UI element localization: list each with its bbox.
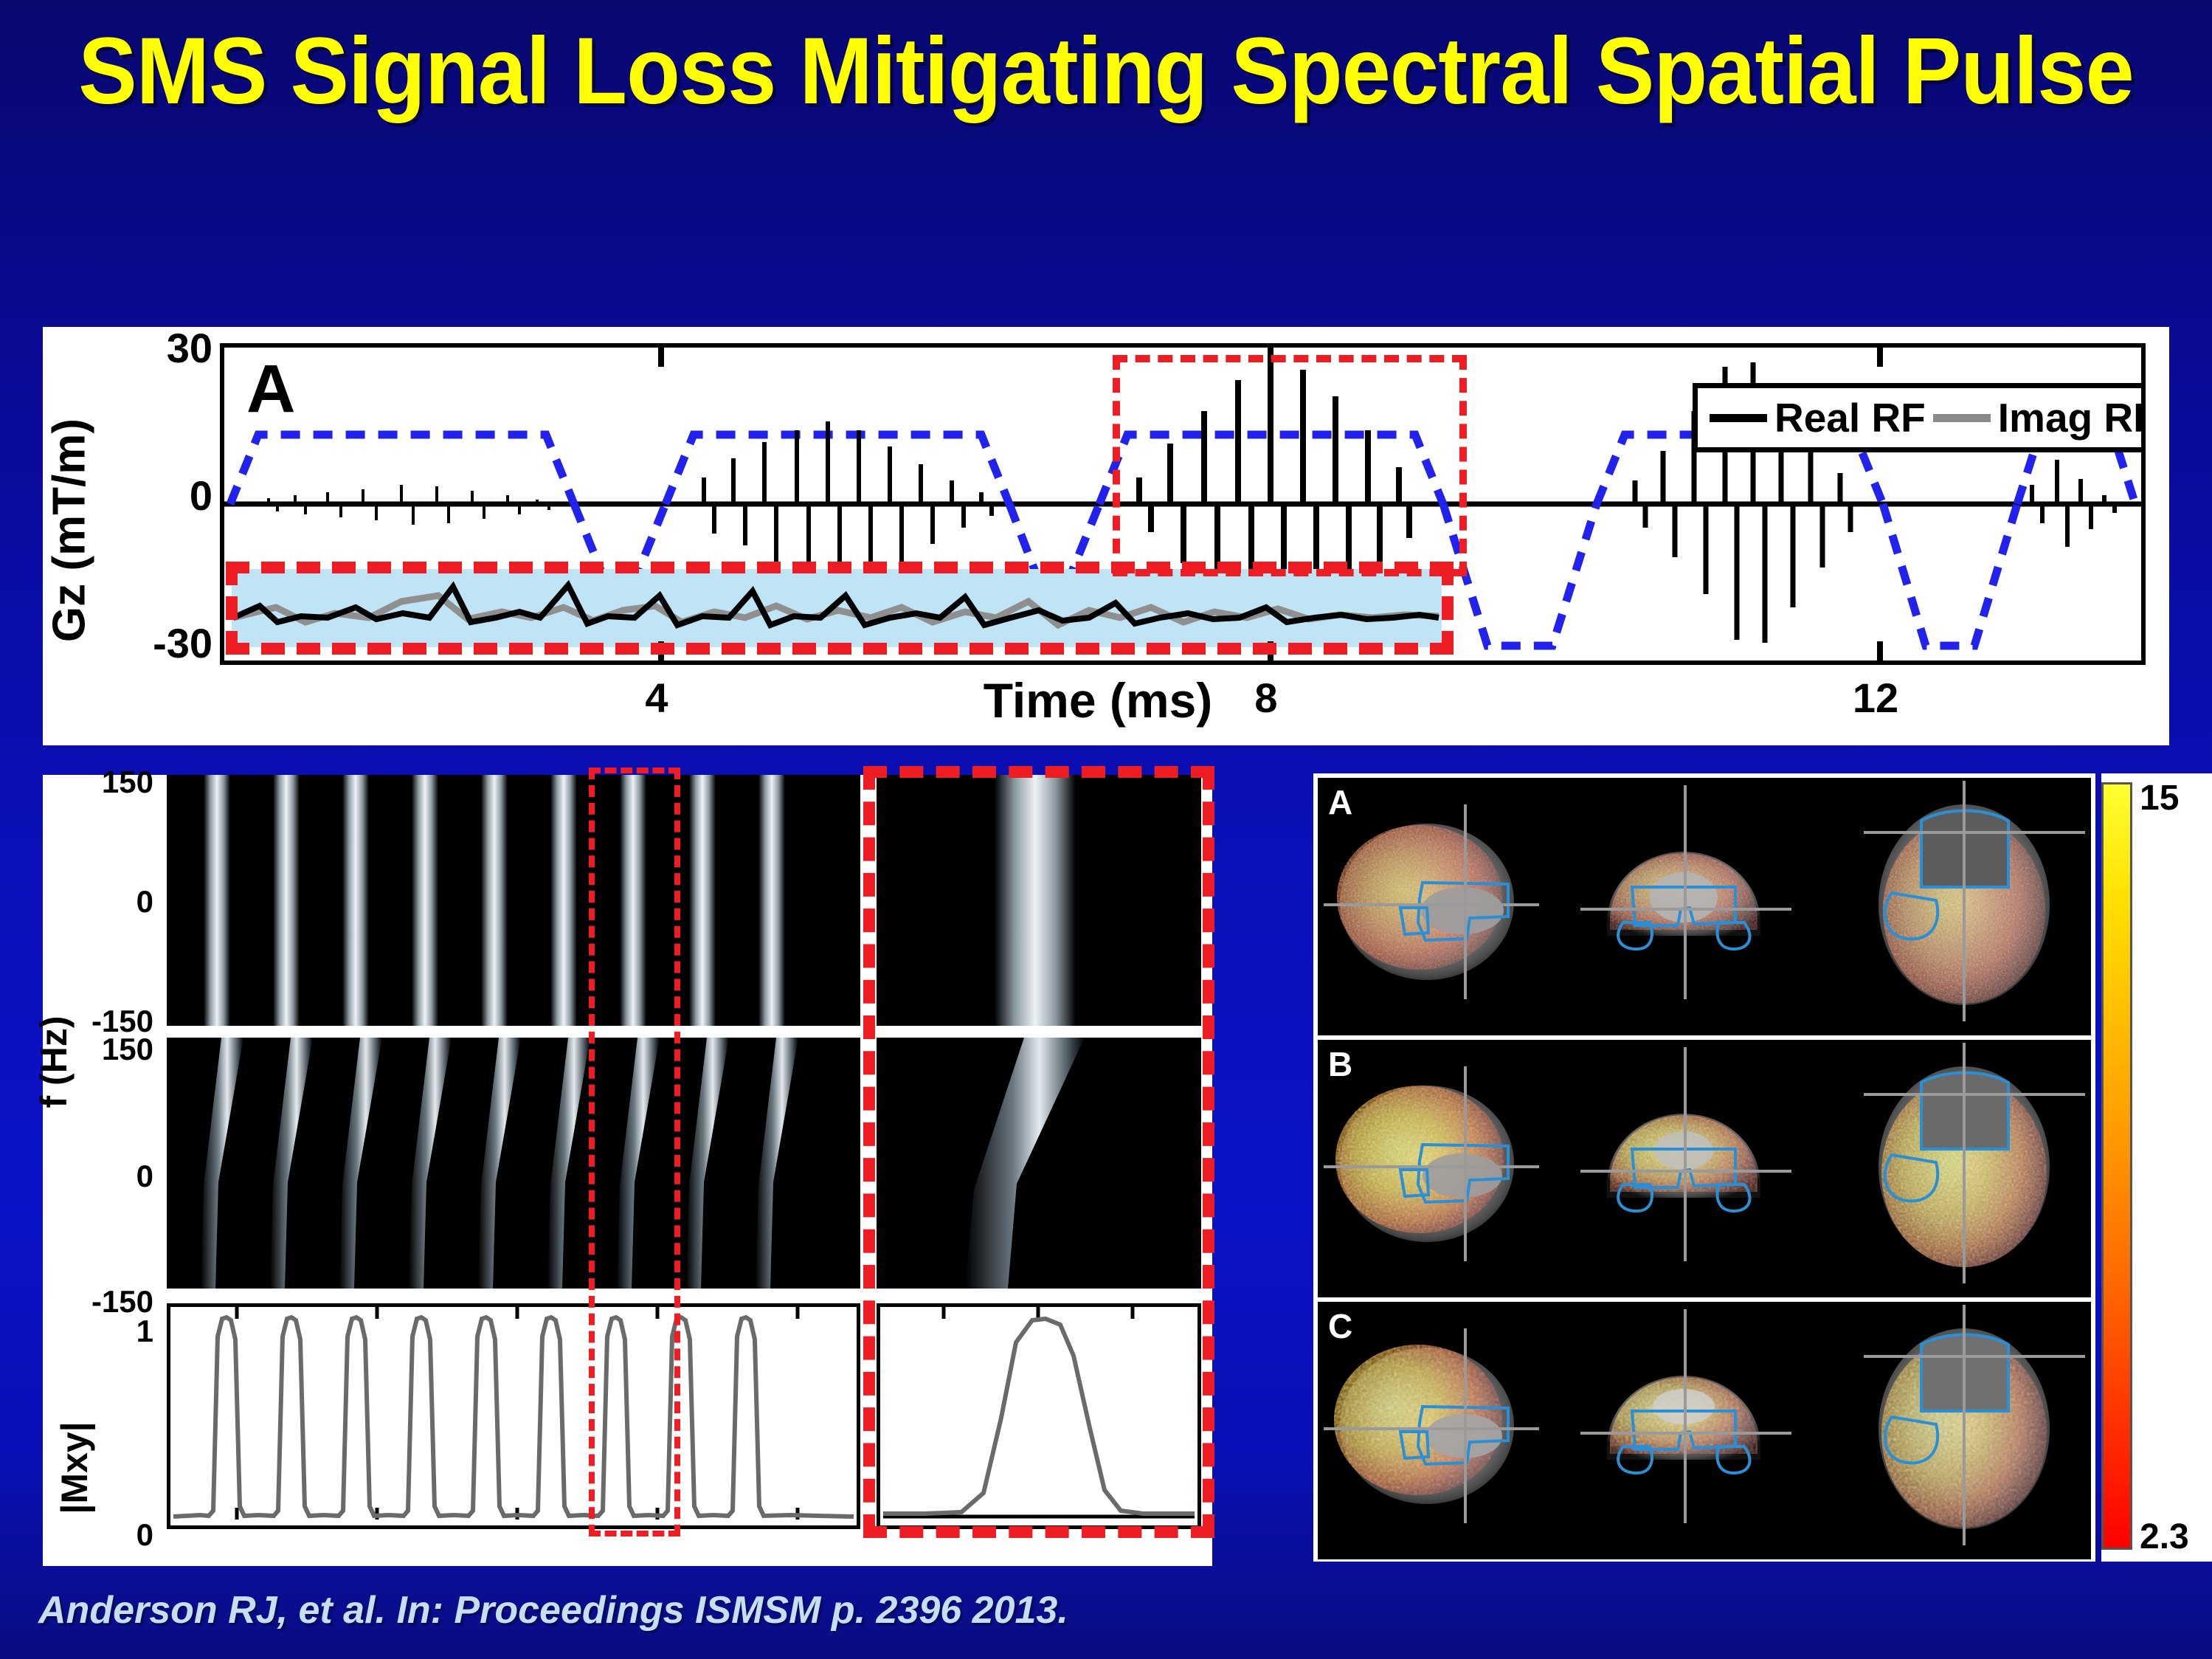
- colorbar-min-label: 2.3: [2140, 1517, 2189, 1557]
- brain-row-c: C: [1318, 1302, 2091, 1559]
- colorbar-max-label: 15: [2140, 778, 2179, 818]
- legend-label-real-rf: Real RF: [1774, 394, 1926, 441]
- figure-a-panel: Gz (mT/m) 30 0 -30: [43, 327, 2169, 745]
- figure-c-panel: A: [1313, 773, 2095, 1562]
- colorbar-panel: 15 2.3: [2101, 773, 2212, 1562]
- figure-b-mxytick-1: 1: [43, 1314, 153, 1349]
- figure-a-y-ticks: 30 0 -30: [87, 327, 212, 681]
- figure-a-ytick-neg30: -30: [94, 619, 212, 667]
- figure-a-x-axis-label: Time (ms): [984, 672, 1213, 728]
- brain-row-b-images: [1318, 1040, 2091, 1297]
- brain-row-letter-c: C: [1328, 1306, 1352, 1346]
- legend-swatch-imag-rf: [1933, 414, 1991, 422]
- figure-a-xtick-8: 8: [1254, 674, 1277, 722]
- figure-b-panel: f (Hz) |Mxy| 150 0 -150 150 0 -150 1 0: [43, 775, 1212, 1566]
- brain-row-c-images: [1318, 1302, 2091, 1559]
- citation-text: Anderson RJ, et al. In: Proceedings ISMS…: [38, 1588, 1068, 1632]
- legend-swatch-real-rf: [1710, 414, 1767, 422]
- figure-b-mxy-plot: [167, 1303, 860, 1529]
- figure-b-ftick-mid-0: 0: [43, 1159, 153, 1194]
- figure-a-plot-area: A Real RF Imag RF Gz: [220, 343, 2146, 665]
- figure-b-inset-heatmap-conventional: [877, 1038, 1201, 1289]
- figure-a-panel-letter: A: [246, 351, 295, 428]
- figure-a-ytick-30: 30: [94, 324, 212, 372]
- figure-b-inset-mxy-plot: [877, 1303, 1201, 1529]
- figure-a-ytick-0: 0: [94, 472, 212, 520]
- page-title: SMS Signal Loss Mitigating Spectral Spat…: [77, 24, 2135, 120]
- brain-row-b: B: [1318, 1040, 2091, 1297]
- brain-row-letter-a: A: [1328, 782, 1352, 822]
- figure-a-xtick-4: 4: [645, 674, 668, 722]
- figure-b-mxytick-0: 0: [43, 1517, 153, 1553]
- figure-b-heatmap-conventional: [167, 1038, 860, 1289]
- figure-a-xtick-12: 12: [1853, 674, 1898, 722]
- figure-b-inset-heatmap-spectralspatial: [877, 775, 1201, 1026]
- activation-colorbar: [2101, 782, 2132, 1550]
- legend-label-imag-rf: Imag RF: [1998, 394, 2146, 441]
- figure-b-ftick-top-0: 0: [43, 884, 153, 920]
- brain-row-letter-b: B: [1328, 1044, 1352, 1084]
- figure-b-heatmap-spectralspatial: [167, 775, 860, 1026]
- figure-b-ftick-mid-150: 150: [43, 1032, 153, 1067]
- figure-a-legend: Real RF Imag RF Gz: [1693, 383, 2146, 452]
- brain-row-a-images: [1318, 778, 2091, 1035]
- figure-b-ftick-top-150: 150: [43, 765, 153, 800]
- brain-row-a: A: [1318, 778, 2091, 1035]
